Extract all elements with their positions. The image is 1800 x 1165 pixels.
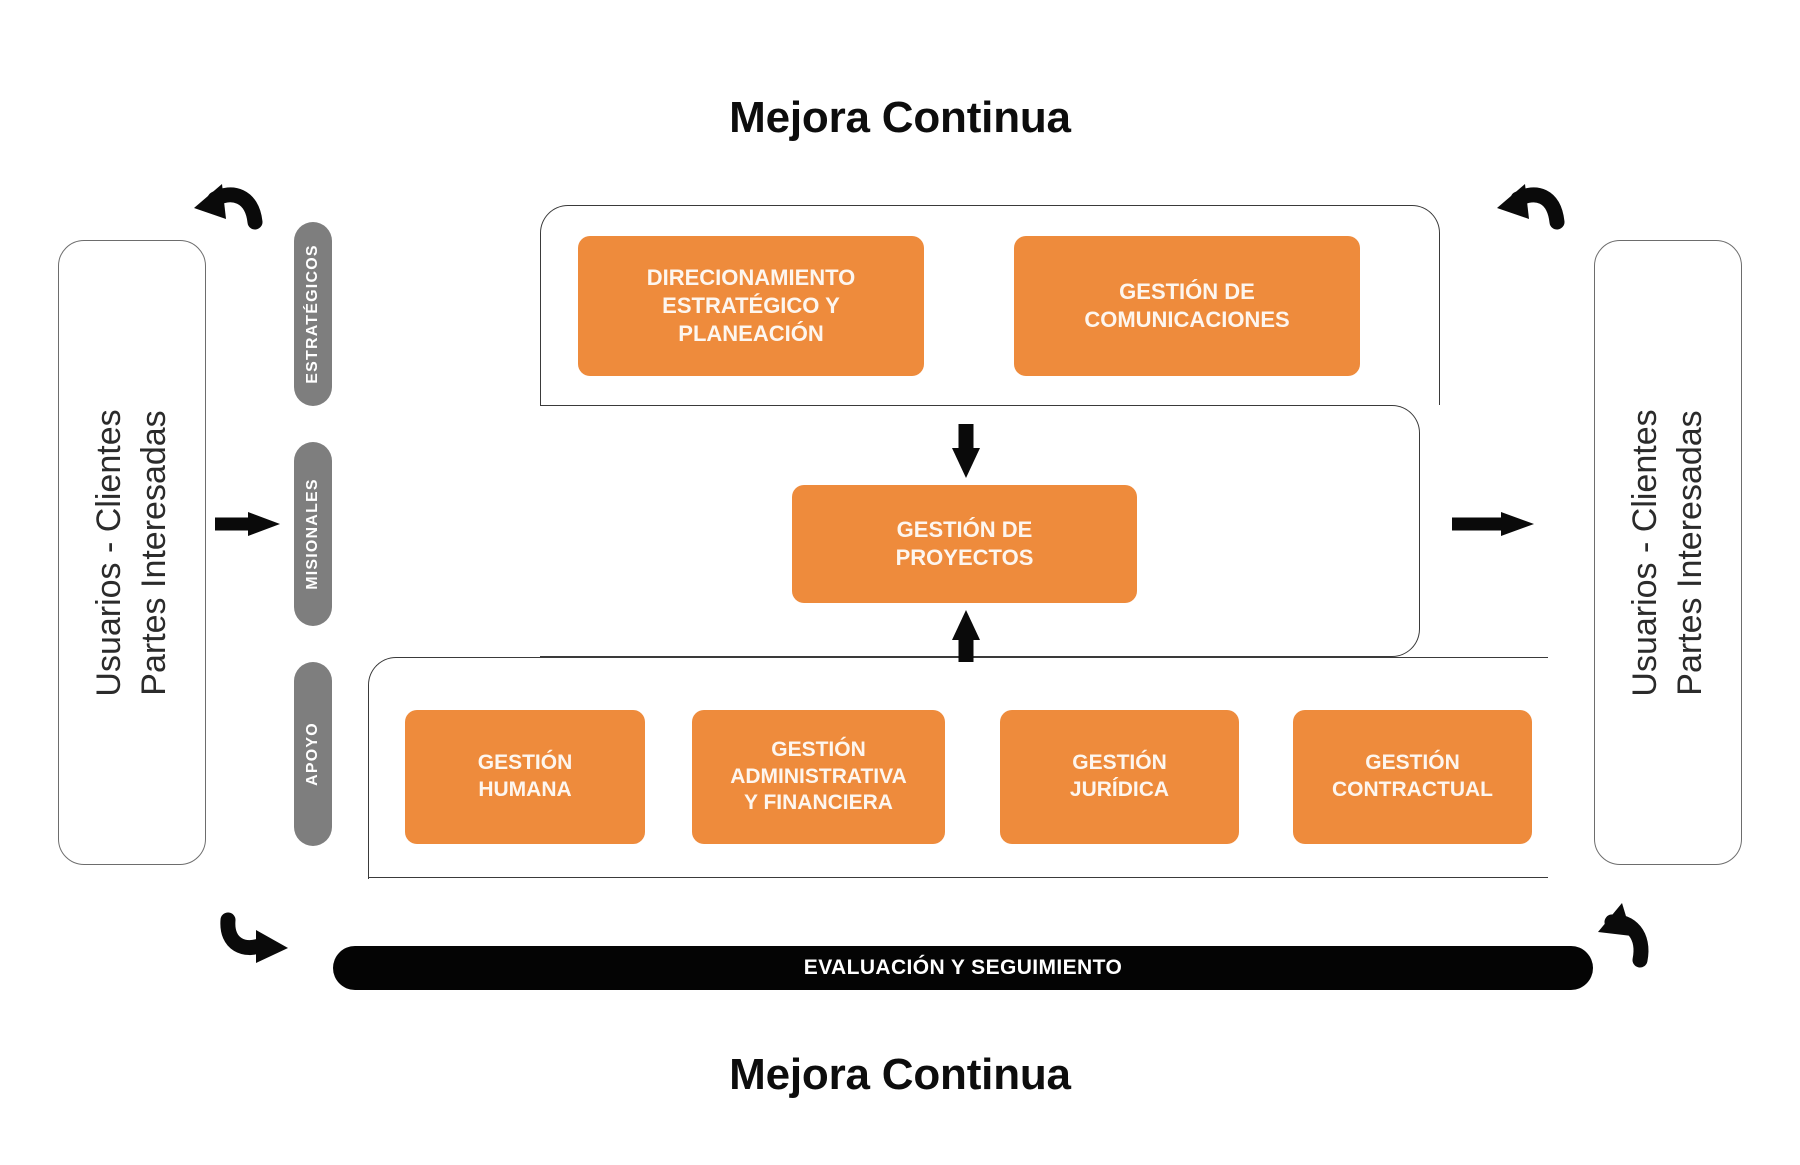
category-tab-apoyo-label: APOYO: [304, 722, 322, 786]
evaluation-bar-label: EVALUACIÓN Y SEGUIMIENTO: [804, 956, 1122, 980]
stakeholders-right-line2: Partes Interesadas: [1668, 243, 1713, 863]
process-box-direccionamiento-estrategico[interactable]: DIRECIONAMIENTO ESTRATÉGICO Y PLANEACIÓN: [578, 236, 924, 376]
category-tab-estrategicos-label: ESTRATÉGICOS: [304, 244, 322, 383]
process-map-diagram: Mejora Continua Usuarios - Clientes Part…: [0, 0, 1800, 1165]
process-box-gestion-administrativa-financiera[interactable]: GESTIÓN ADMINISTRATIVA Y FINANCIERA: [692, 710, 945, 844]
title-mejora-continua-top: Mejora Continua: [0, 93, 1800, 143]
stakeholders-left-line1: Usuarios - Clientes: [87, 243, 132, 863]
arrow-curve-bottom-right: [1598, 903, 1641, 960]
process-line: GESTIÓN: [1072, 751, 1167, 774]
process-line: CONTRACTUAL: [1332, 778, 1493, 801]
process-line: GESTIÓN: [771, 738, 866, 761]
process-line: COMUNICACIONES: [1084, 307, 1289, 332]
process-line: PLANEACIÓN: [678, 321, 823, 346]
arrow-curve-bottom-left: [228, 920, 288, 963]
title-mejora-continua-bottom: Mejora Continua: [0, 1050, 1800, 1100]
group-outline-apoyo-bottom: [368, 877, 1548, 878]
process-box-gestion-juridica[interactable]: GESTIÓN JURÍDICA: [1000, 710, 1239, 844]
evaluation-bar[interactable]: EVALUACIÓN Y SEGUIMIENTO: [333, 946, 1593, 990]
process-line: Y FINANCIERA: [744, 791, 893, 814]
arrow-curve-top-left: [194, 184, 255, 222]
category-tab-misionales-label: MISIONALES: [304, 478, 322, 590]
stakeholders-right-text: Usuarios - Clientes Partes Interesadas: [1623, 243, 1713, 863]
stakeholders-right-line1: Usuarios - Clientes: [1623, 243, 1668, 863]
process-line: ADMINISTRATIVA: [730, 765, 907, 788]
process-line: DIRECIONAMIENTO: [647, 265, 856, 290]
process-line: GESTIÓN: [1365, 751, 1460, 774]
stakeholders-right-panel: Usuarios - Clientes Partes Interesadas: [1594, 240, 1742, 865]
process-box-gestion-proyectos[interactable]: GESTIÓN DE PROYECTOS: [792, 485, 1137, 603]
stakeholders-left-panel: Usuarios - Clientes Partes Interesadas: [58, 240, 206, 865]
process-line: HUMANA: [478, 778, 571, 801]
process-line: GESTIÓN DE: [1119, 279, 1255, 304]
arrow-output-right: [1452, 512, 1534, 536]
stakeholders-left-text: Usuarios - Clientes Partes Interesadas: [87, 243, 177, 863]
process-line: ESTRATÉGICO Y: [662, 293, 840, 318]
category-tab-apoyo: APOYO: [294, 662, 332, 846]
process-line: JURÍDICA: [1070, 778, 1169, 801]
process-box-gestion-comunicaciones[interactable]: GESTIÓN DE COMUNICACIONES: [1014, 236, 1360, 376]
process-box-gestion-contractual[interactable]: GESTIÓN CONTRACTUAL: [1293, 710, 1532, 844]
process-line: GESTIÓN DE: [897, 517, 1033, 542]
process-line: PROYECTOS: [896, 545, 1034, 570]
process-box-gestion-humana[interactable]: GESTIÓN HUMANA: [405, 710, 645, 844]
category-tab-estrategicos: ESTRATÉGICOS: [294, 222, 332, 406]
stakeholders-left-line2: Partes Interesadas: [132, 243, 177, 863]
arrow-input-left: [215, 512, 280, 536]
arrow-curve-top-right: [1497, 184, 1557, 222]
process-line: GESTIÓN: [478, 751, 573, 774]
category-tab-misionales: MISIONALES: [294, 442, 332, 626]
